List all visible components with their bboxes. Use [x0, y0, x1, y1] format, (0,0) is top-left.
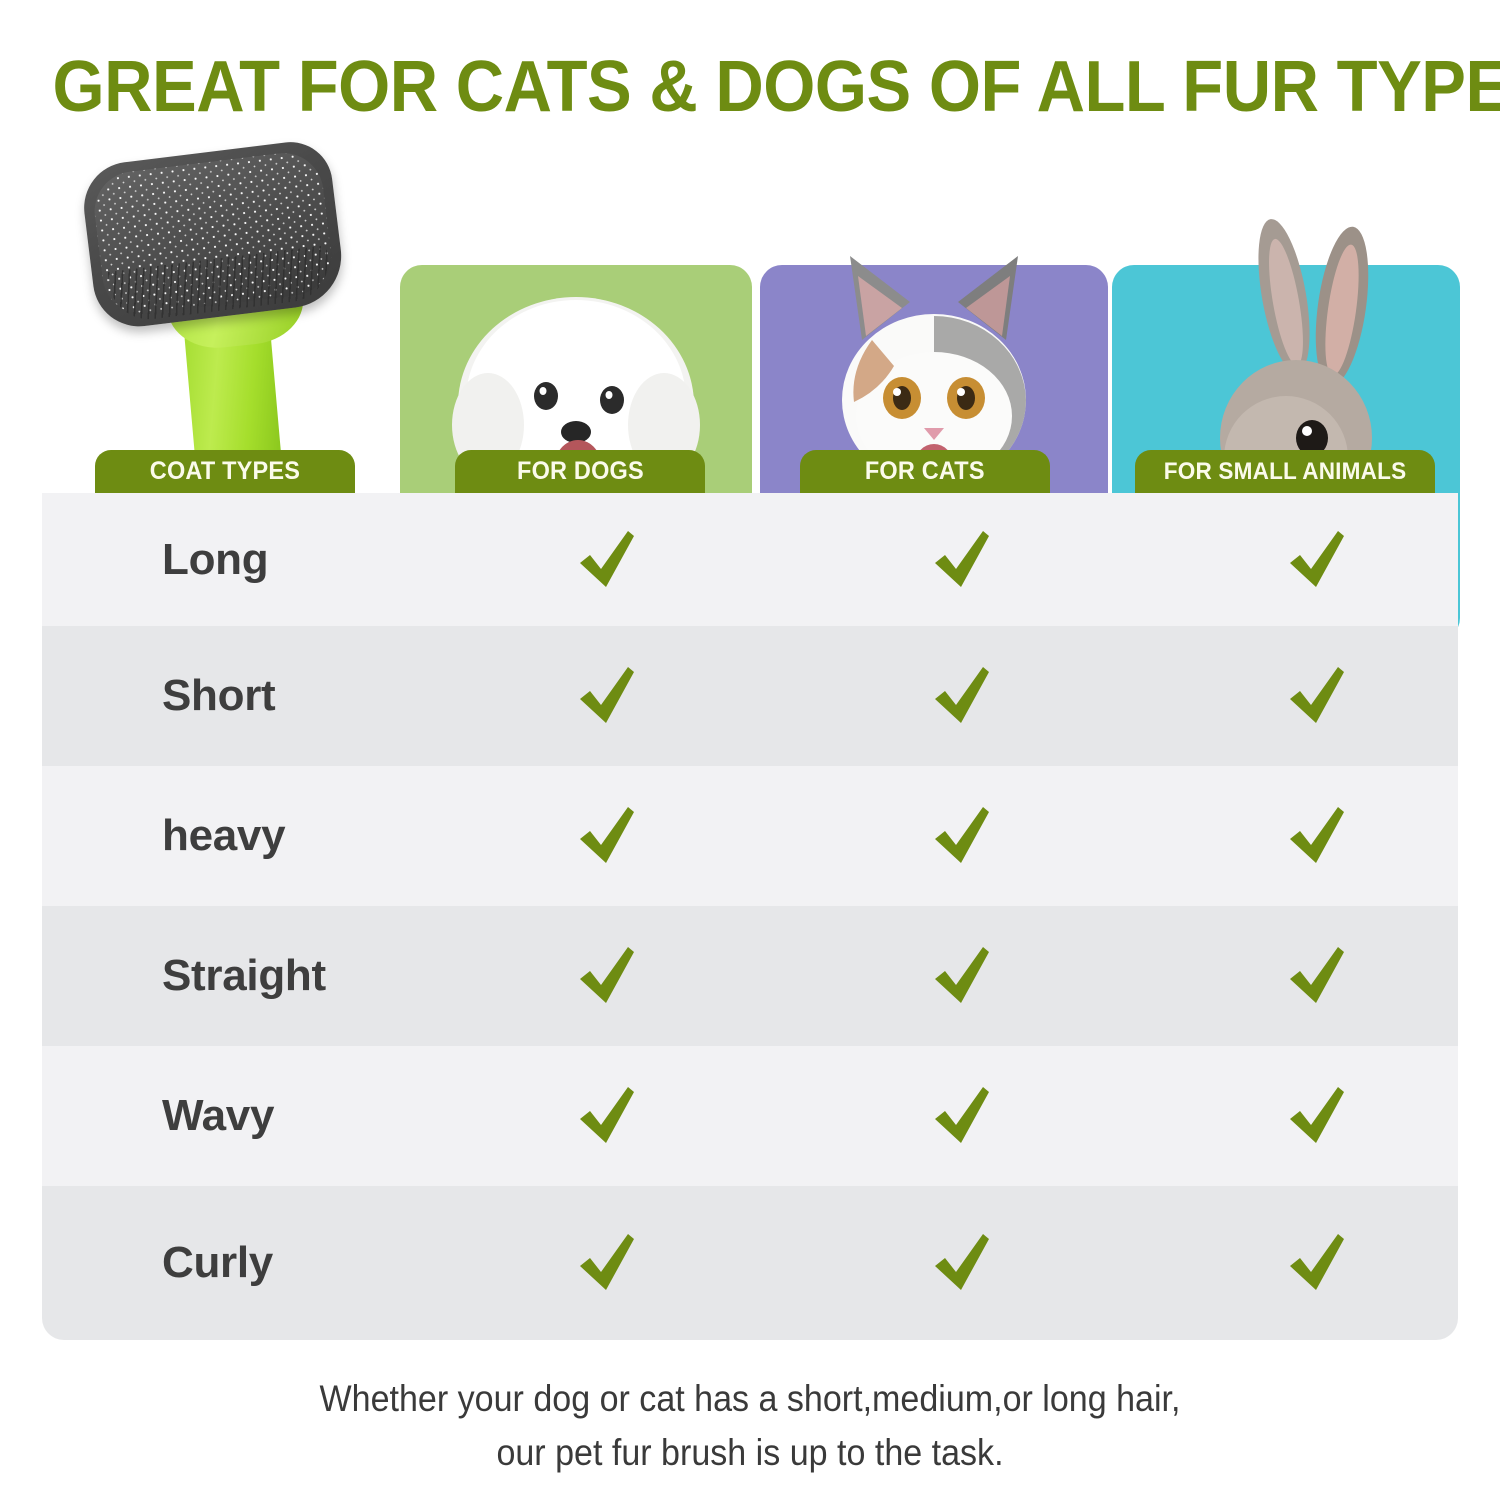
- check-icon-small-animals: [1282, 1228, 1352, 1298]
- pill-label: FOR CATS: [865, 457, 985, 486]
- row-label: Wavy: [162, 1091, 274, 1141]
- check-icon-cats: [927, 801, 997, 871]
- caption-line-2: our pet fur brush is up to the task.: [60, 1426, 1440, 1480]
- check-icon-dogs: [572, 525, 642, 595]
- table-row: Long: [42, 493, 1458, 626]
- column-header-for-cats[interactable]: FOR CATS: [800, 450, 1050, 493]
- table-row: Wavy: [42, 1046, 1458, 1186]
- column-header-for-small-animals[interactable]: FOR SMALL ANIMALS: [1135, 450, 1435, 493]
- check-icon-dogs: [572, 1081, 642, 1151]
- check-icon-small-animals: [1282, 1081, 1352, 1151]
- check-icon-small-animals: [1282, 941, 1352, 1011]
- brush-pin-pad: [79, 137, 347, 331]
- brush-icon: [80, 140, 380, 500]
- check-icon-dogs: [572, 801, 642, 871]
- column-header-for-dogs[interactable]: FOR DOGS: [455, 450, 705, 493]
- check-icon-small-animals: [1282, 525, 1352, 595]
- footer-caption: Whether your dog or cat has a short,medi…: [60, 1372, 1440, 1479]
- check-icon-small-animals: [1282, 661, 1352, 731]
- caption-line-1: Whether your dog or cat has a short,medi…: [60, 1372, 1440, 1426]
- product-brush-cell: [70, 140, 400, 500]
- pill-label: FOR DOGS: [517, 457, 644, 486]
- coat-type-table: Long Short heavy: [42, 493, 1458, 1340]
- column-header-coat-types[interactable]: COAT TYPES: [95, 450, 355, 493]
- check-icon-cats: [927, 661, 997, 731]
- table-row: heavy: [42, 766, 1458, 906]
- row-label: heavy: [162, 811, 285, 861]
- check-icon-dogs: [572, 1228, 642, 1298]
- check-icon-cats: [927, 941, 997, 1011]
- row-label: Straight: [162, 951, 326, 1001]
- check-icon-cats: [927, 1081, 997, 1151]
- table-row: Straight: [42, 906, 1458, 1046]
- row-label: Short: [162, 671, 275, 721]
- page-title: GREAT FOR CATS & DOGS OF ALL FUR TYPES: [53, 46, 1448, 128]
- row-label: Curly: [162, 1238, 273, 1288]
- check-icon-dogs: [572, 661, 642, 731]
- check-icon-cats: [927, 525, 997, 595]
- table-row: Curly: [42, 1186, 1458, 1340]
- product-infographic: GREAT FOR CATS & DOGS OF ALL FUR TYPES: [0, 0, 1500, 1500]
- pill-label: FOR SMALL ANIMALS: [1164, 458, 1407, 486]
- check-icon-cats: [927, 1228, 997, 1298]
- pill-label: COAT TYPES: [150, 457, 300, 486]
- header-image-row: [0, 140, 1500, 500]
- row-label: Long: [162, 535, 268, 585]
- check-icon-small-animals: [1282, 801, 1352, 871]
- check-icon-dogs: [572, 941, 642, 1011]
- table-row: Short: [42, 626, 1458, 766]
